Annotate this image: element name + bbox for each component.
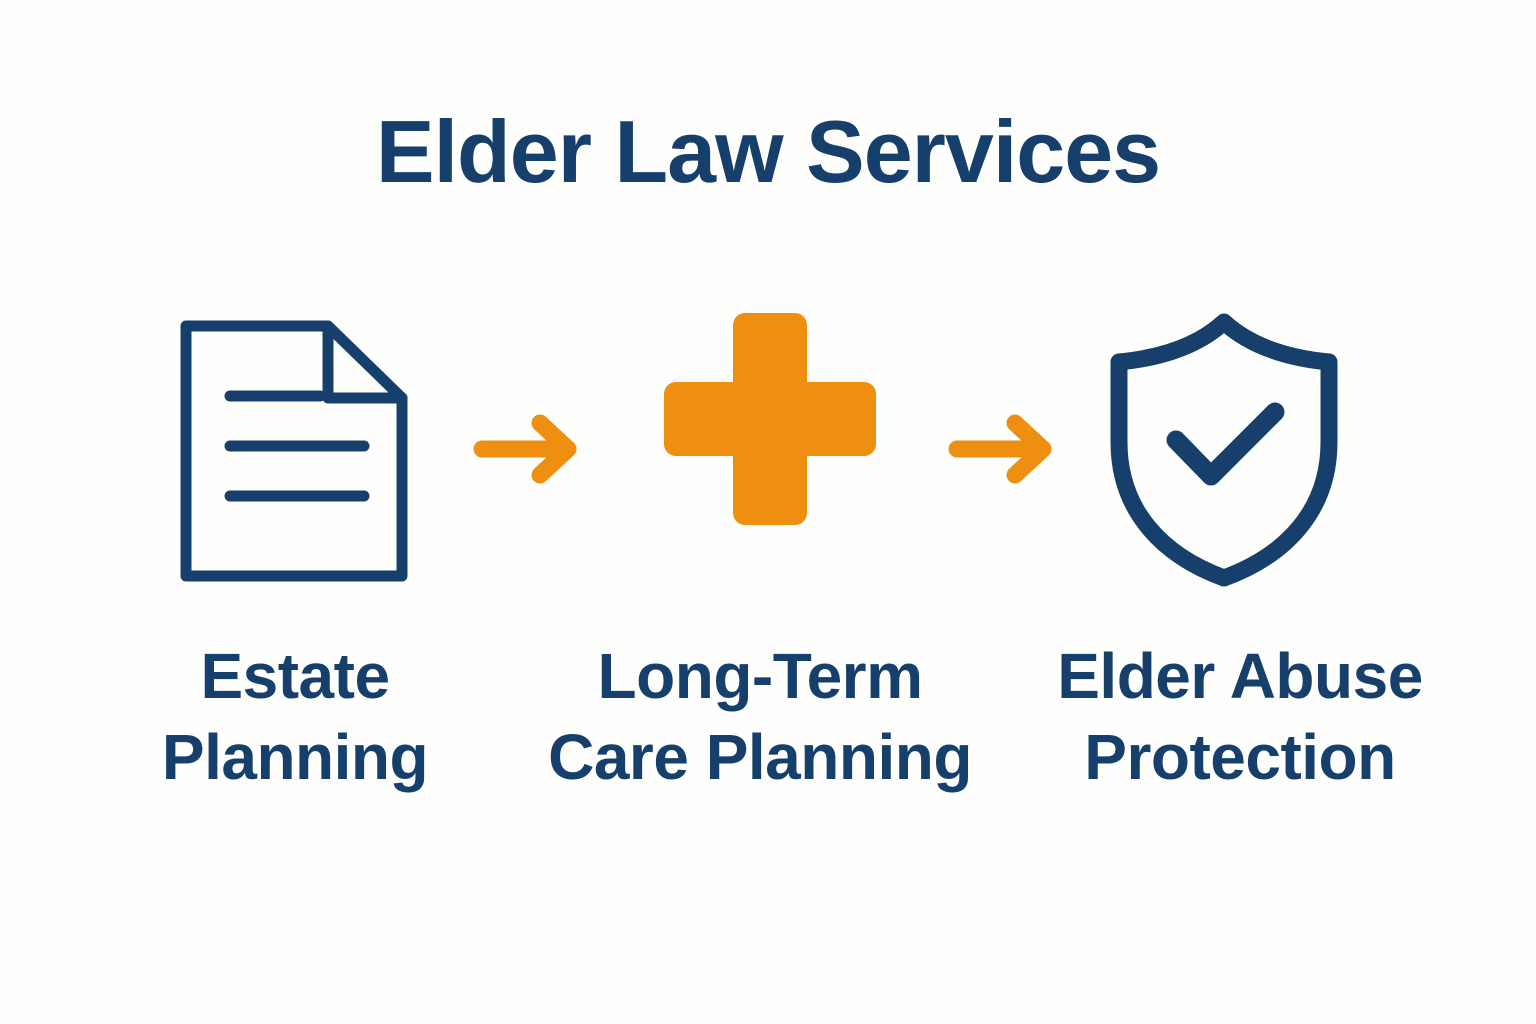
step-2-icon-long-term-care (648, 300, 892, 600)
step-1-label: Estate Planning (130, 636, 460, 797)
step-1-label-line-2: Planning (130, 717, 460, 798)
step-2-label-line-1: Long-Term (525, 636, 995, 717)
arrow-right-icon (945, 414, 1065, 484)
step-2-label-line-2: Care Planning (525, 717, 995, 798)
document-icon (168, 300, 420, 600)
shield-check-icon (1098, 300, 1350, 600)
step-1-icon-estate-planning (168, 300, 420, 600)
step-3-icon-elder-abuse-protection (1098, 300, 1350, 600)
step-2-label: Long-Term Care Planning (525, 636, 995, 797)
medical-cross-icon (648, 300, 892, 600)
connector-arrow-2 (945, 414, 1065, 484)
step-1-label-line-1: Estate (130, 636, 460, 717)
page-title: Elder Law Services (0, 108, 1536, 196)
service-labels-row: Estate Planning Long-Term Care Planning … (0, 636, 1536, 846)
step-3-label-line-2: Protection (1025, 717, 1455, 798)
services-flow-row (0, 300, 1536, 600)
elder-law-services-infographic: Elder Law Services (0, 0, 1536, 1024)
step-3-label-line-1: Elder Abuse (1025, 636, 1455, 717)
connector-arrow-1 (470, 414, 590, 484)
arrow-right-icon (470, 414, 590, 484)
step-3-label: Elder Abuse Protection (1025, 636, 1455, 797)
